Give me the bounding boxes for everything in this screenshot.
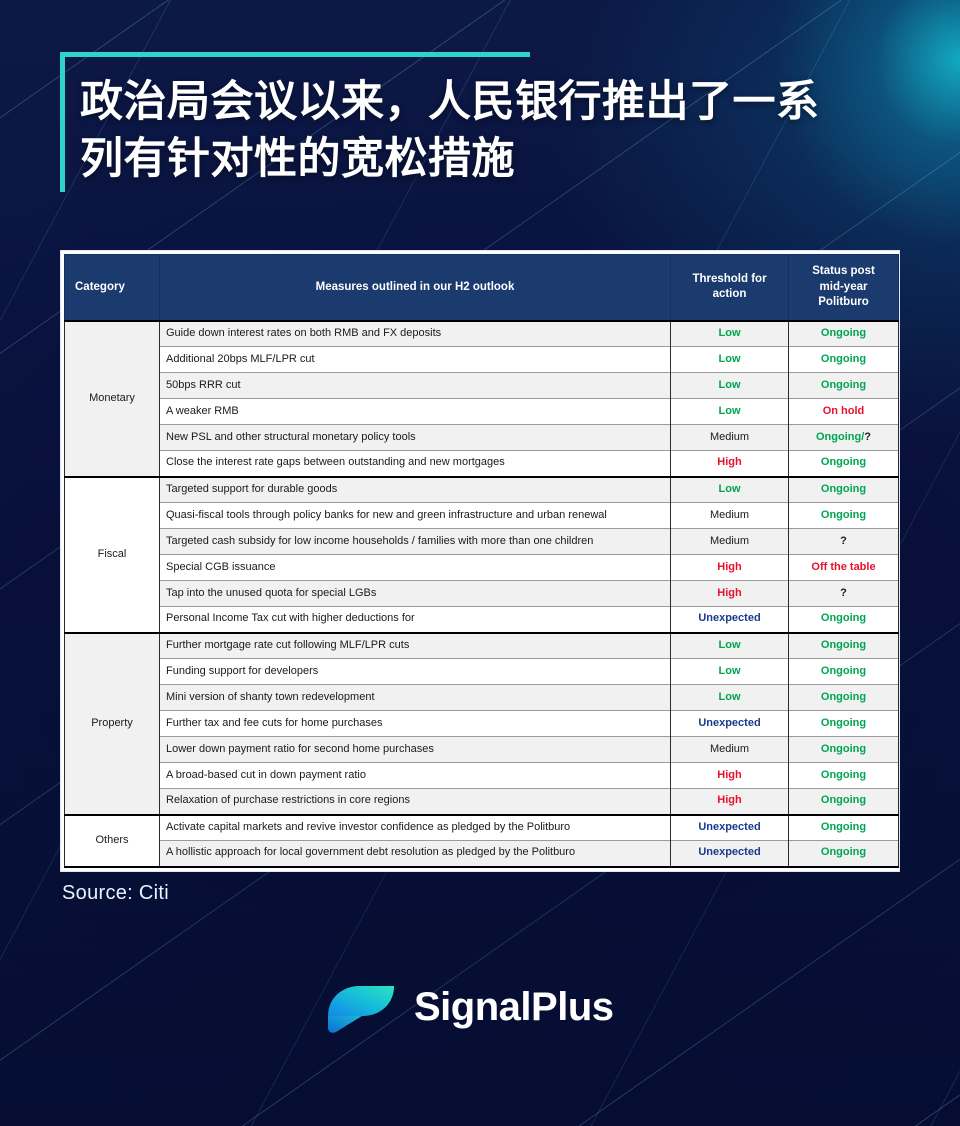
measure-cell: Targeted support for durable goods [160, 477, 671, 503]
table-row: Close the interest rate gaps between out… [65, 451, 899, 477]
measure-cell: Further mortgage rate cut following MLF/… [160, 633, 671, 659]
category-cell: Property [65, 633, 160, 815]
status-cell: Ongoing [789, 789, 899, 815]
source-note: Source: Citi [62, 882, 169, 905]
measure-cell: New PSL and other structural monetary po… [160, 425, 671, 451]
threshold-cell: Low [671, 373, 789, 399]
status-cell: Off the table [789, 555, 899, 581]
policy-measures-table: Category Measures outlined in our H2 out… [64, 254, 899, 868]
threshold-cell: High [671, 555, 789, 581]
status-cell: Ongoing [789, 763, 899, 789]
table-row: Mini version of shanty town redevelopmen… [65, 685, 899, 711]
measure-cell: Mini version of shanty town redevelopmen… [160, 685, 671, 711]
threshold-cell: High [671, 763, 789, 789]
measure-cell: Further tax and fee cuts for home purcha… [160, 711, 671, 737]
category-cell: Monetary [65, 321, 160, 477]
status-cell: Ongoing/? [789, 425, 899, 451]
measure-cell: Personal Income Tax cut with higher dedu… [160, 607, 671, 633]
threshold-cell: High [671, 581, 789, 607]
status-cell: Ongoing [789, 477, 899, 503]
column-header-category: Category [65, 255, 160, 321]
table-row: Funding support for developersLowOngoing [65, 659, 899, 685]
table-row: A hollistic approach for local governmen… [65, 841, 899, 867]
measure-cell: A hollistic approach for local governmen… [160, 841, 671, 867]
slide-canvas: 政治局会议以来，人民银行推出了一系 列有针对性的宽松措施 Category Me… [0, 0, 960, 1126]
table-row: FiscalTargeted support for durable goods… [65, 477, 899, 503]
status-cell: Ongoing [789, 373, 899, 399]
threshold-cell: Medium [671, 425, 789, 451]
threshold-cell: Unexpected [671, 841, 789, 867]
column-header-status: Status post mid-year Politburo [789, 255, 899, 321]
measure-cell: A weaker RMB [160, 399, 671, 425]
table-row: A weaker RMBLowOn hold [65, 399, 899, 425]
status-cell: Ongoing [789, 815, 899, 841]
page-title: 政治局会议以来，人民银行推出了一系 列有针对性的宽松措施 [60, 52, 898, 188]
measure-cell: Targeted cash subsidy for low income hou… [160, 529, 671, 555]
table-body: MonetaryGuide down interest rates on bot… [65, 321, 899, 867]
measure-cell: Guide down interest rates on both RMB an… [160, 321, 671, 347]
measure-cell: Lower down payment ratio for second home… [160, 737, 671, 763]
threshold-cell: Low [671, 685, 789, 711]
measure-cell: Special CGB issuance [160, 555, 671, 581]
threshold-cell: Low [671, 399, 789, 425]
table-row: Targeted cash subsidy for low income hou… [65, 529, 899, 555]
table-row: Special CGB issuanceHighOff the table [65, 555, 899, 581]
threshold-cell: Medium [671, 529, 789, 555]
status-cell: ? [789, 581, 899, 607]
status-cell: Ongoing [789, 347, 899, 373]
threshold-cell: Low [671, 633, 789, 659]
threshold-cell: Low [671, 347, 789, 373]
status-cell: Ongoing [789, 659, 899, 685]
table-row: MonetaryGuide down interest rates on bot… [65, 321, 899, 347]
status-cell: Ongoing [789, 685, 899, 711]
table-row: Personal Income Tax cut with higher dedu… [65, 607, 899, 633]
table-row: PropertyFurther mortgage rate cut follow… [65, 633, 899, 659]
threshold-cell: Low [671, 321, 789, 347]
status-cell: Ongoing [789, 633, 899, 659]
measure-cell: A broad-based cut in down payment ratio [160, 763, 671, 789]
status-cell: Ongoing [789, 737, 899, 763]
brand-wordmark: SignalPlus [414, 985, 614, 1030]
table-row: Further tax and fee cuts for home purcha… [65, 711, 899, 737]
measure-cell: 50bps RRR cut [160, 373, 671, 399]
status-cell: Ongoing [789, 451, 899, 477]
category-cell: Others [65, 815, 160, 867]
policy-measures-table-container: Category Measures outlined in our H2 out… [60, 250, 900, 872]
status-cell: Ongoing [789, 841, 899, 867]
measure-cell: Funding support for developers [160, 659, 671, 685]
measure-cell: Tap into the unused quota for special LG… [160, 581, 671, 607]
threshold-cell: Unexpected [671, 711, 789, 737]
status-cell: Ongoing [789, 503, 899, 529]
column-header-measures: Measures outlined in our H2 outlook [160, 255, 671, 321]
table-row: 50bps RRR cutLowOngoing [65, 373, 899, 399]
table-row: Relaxation of purchase restrictions in c… [65, 789, 899, 815]
threshold-cell: High [671, 789, 789, 815]
table-header-row: Category Measures outlined in our H2 out… [65, 255, 899, 321]
threshold-cell: Low [671, 477, 789, 503]
threshold-cell: Medium [671, 737, 789, 763]
measure-cell: Relaxation of purchase restrictions in c… [160, 789, 671, 815]
table-row: OthersActivate capital markets and reviv… [65, 815, 899, 841]
table-header: Category Measures outlined in our H2 out… [65, 255, 899, 321]
threshold-cell: Low [671, 659, 789, 685]
measure-cell: Activate capital markets and revive inve… [160, 815, 671, 841]
table-row: A broad-based cut in down payment ratioH… [65, 763, 899, 789]
measure-cell: Quasi-fiscal tools through policy banks … [160, 503, 671, 529]
status-cell: Ongoing [789, 321, 899, 347]
threshold-cell: High [671, 451, 789, 477]
table-row: Additional 20bps MLF/LPR cutLowOngoing [65, 347, 899, 373]
status-cell: ? [789, 529, 899, 555]
table-row: New PSL and other structural monetary po… [65, 425, 899, 451]
status-cell: Ongoing [789, 711, 899, 737]
title-block: 政治局会议以来，人民银行推出了一系 列有针对性的宽松措施 [60, 52, 898, 188]
brand-logo: SignalPlus [322, 978, 614, 1036]
threshold-cell: Medium [671, 503, 789, 529]
column-header-threshold: Threshold for action [671, 255, 789, 321]
threshold-cell: Unexpected [671, 815, 789, 841]
signalplus-wave-logo-icon [322, 978, 400, 1036]
table-row: Lower down payment ratio for second home… [65, 737, 899, 763]
status-cell: Ongoing [789, 607, 899, 633]
measure-cell: Close the interest rate gaps between out… [160, 451, 671, 477]
threshold-cell: Unexpected [671, 607, 789, 633]
status-cell: On hold [789, 399, 899, 425]
table-row: Tap into the unused quota for special LG… [65, 581, 899, 607]
table-row: Quasi-fiscal tools through policy banks … [65, 503, 899, 529]
measure-cell: Additional 20bps MLF/LPR cut [160, 347, 671, 373]
category-cell: Fiscal [65, 477, 160, 633]
